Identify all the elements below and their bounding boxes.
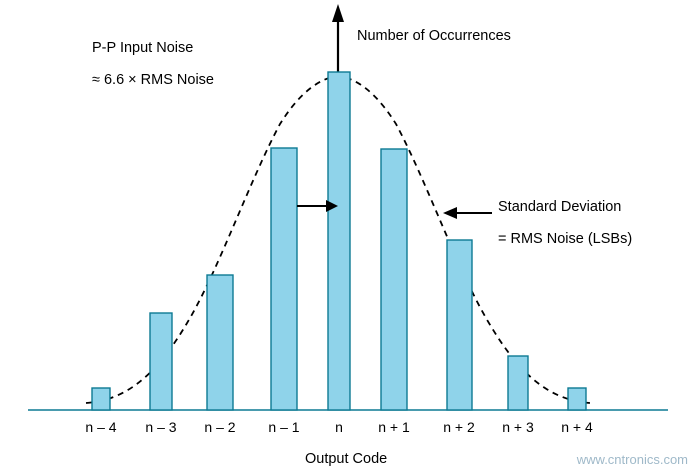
x-tick-label-7: n + 3 xyxy=(502,419,534,435)
bar-n-plus-3 xyxy=(508,356,528,410)
annotation-pp-noise-line2: ≈ 6.6 × RMS Noise xyxy=(92,72,214,88)
standard-deviation-leader xyxy=(443,207,492,219)
x-tick-label-1: n – 3 xyxy=(145,419,176,435)
annotation-standard-deviation-line1: Standard Deviation xyxy=(498,199,621,215)
bar-n-minus-1 xyxy=(271,148,297,410)
x-tick-label-6: n + 2 xyxy=(443,419,475,435)
x-tick-label-5: n + 1 xyxy=(378,419,410,435)
chart-title-occurrences: Number of Occurrences xyxy=(357,28,511,44)
bar-n-plus-2 xyxy=(447,240,472,410)
bar-n-minus-3 xyxy=(150,313,172,410)
bar-n xyxy=(328,72,350,410)
x-tick-label-4: n xyxy=(335,419,343,435)
bar-n-plus-1 xyxy=(381,149,407,410)
bar-n-minus-4 xyxy=(92,388,110,410)
watermark-text: www.cntronics.com xyxy=(577,452,688,467)
x-tick-label-3: n – 1 xyxy=(268,419,299,435)
bar-n-minus-2 xyxy=(207,275,233,410)
x-tick-label-2: n – 2 xyxy=(204,419,235,435)
chart-figure: Number of Occurrences P-P Input Noise ≈ … xyxy=(0,0,698,474)
x-axis-title: Output Code xyxy=(305,451,387,467)
x-tick-label-8: n + 4 xyxy=(561,419,593,435)
bar-n-plus-4 xyxy=(568,388,586,410)
annotation-pp-noise-line1: P-P Input Noise xyxy=(92,40,193,56)
annotation-standard-deviation-line2: = RMS Noise (LSBs) xyxy=(498,231,632,247)
x-tick-label-0: n – 4 xyxy=(85,419,116,435)
y-axis-arrowhead xyxy=(332,4,344,22)
